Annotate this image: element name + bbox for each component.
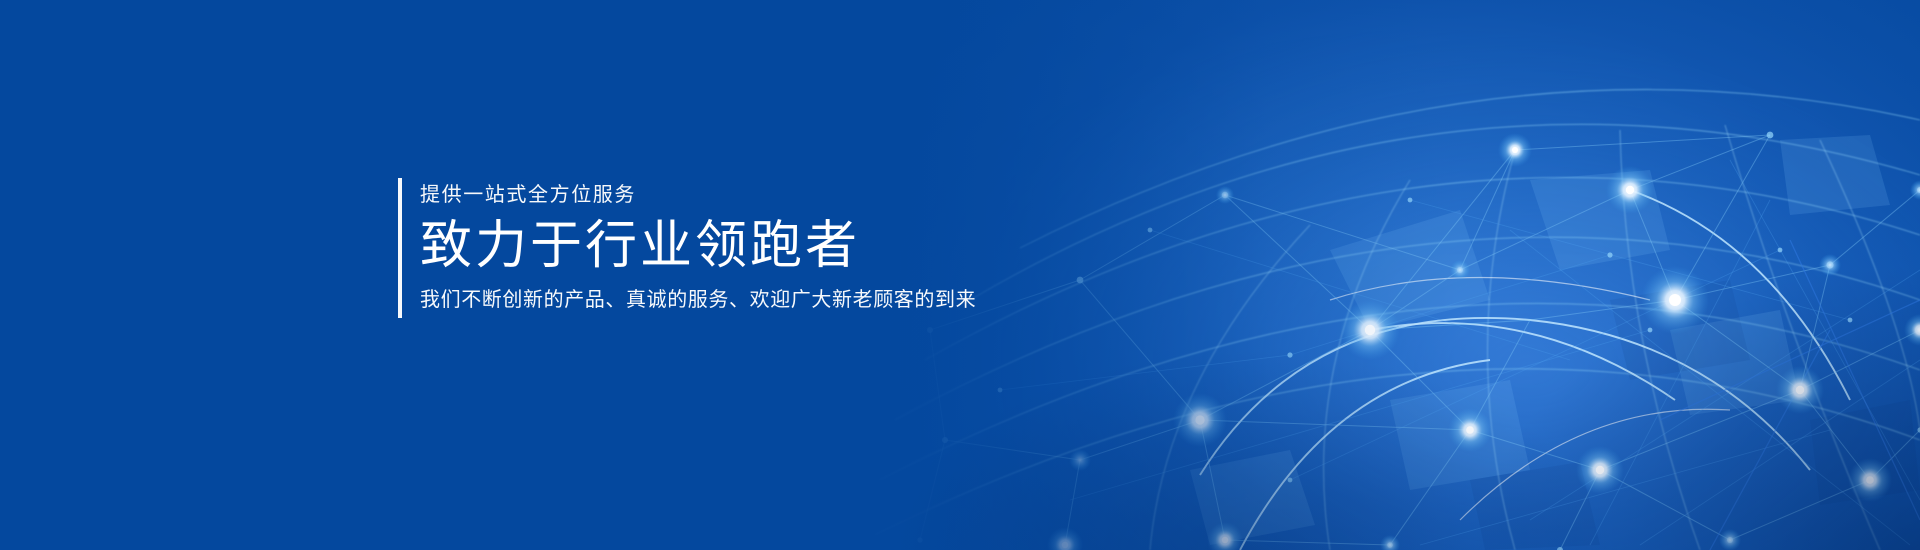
banner-tagline: 我们不断创新的产品、真诚的服务、欢迎广大新老顾客的到来: [420, 287, 976, 313]
banner-headline: 致力于行业领跑者: [420, 216, 976, 277]
accent-bar: [398, 178, 402, 318]
banner-text-lines: 提供一站式全方位服务 致力于行业领跑者 我们不断创新的产品、真诚的服务、欢迎广大…: [402, 178, 976, 318]
banner-eyebrow: 提供一站式全方位服务: [420, 183, 976, 208]
banner-text-block: 提供一站式全方位服务 致力于行业领跑者 我们不断创新的产品、真诚的服务、欢迎广大…: [398, 178, 976, 318]
hero-banner: 提供一站式全方位服务 致力于行业领跑者 我们不断创新的产品、真诚的服务、欢迎广大…: [0, 0, 1920, 550]
